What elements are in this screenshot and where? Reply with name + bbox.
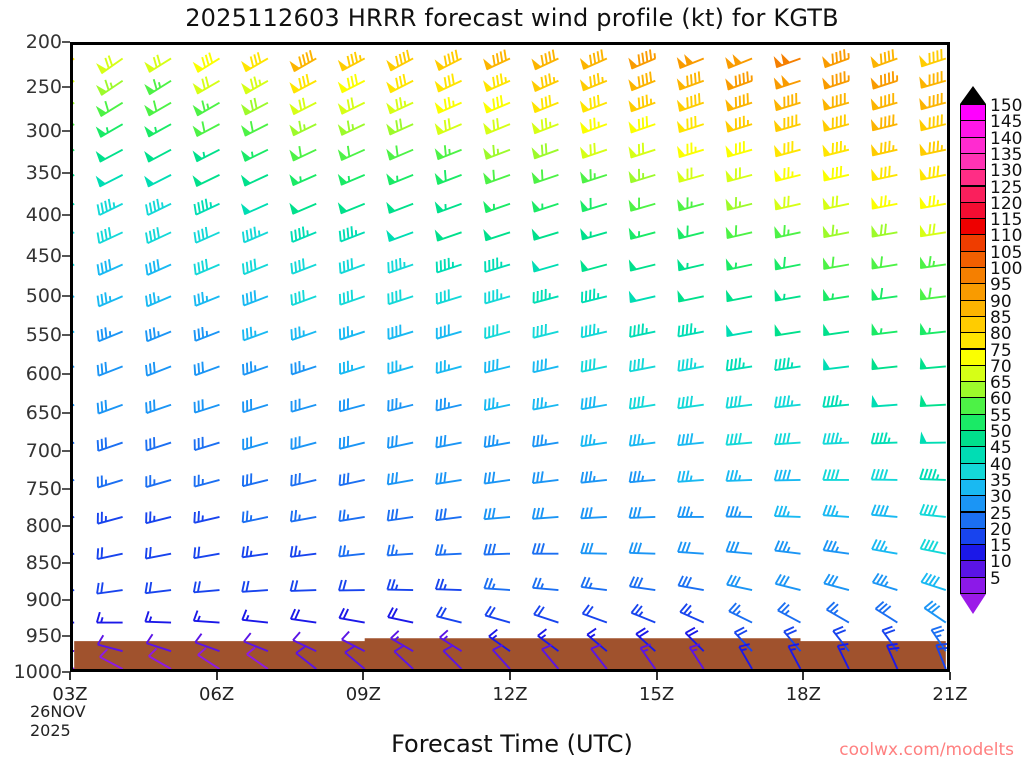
wind-barb (342, 632, 365, 652)
colorbar-cell (960, 202, 986, 219)
wind-barb (198, 648, 220, 669)
wind-barb (338, 97, 364, 113)
wind-barb (936, 644, 947, 669)
y-axis-tick-mark (62, 130, 70, 132)
wind-barb (823, 71, 849, 88)
y-axis-tick-mark (62, 599, 70, 601)
wind-barb (291, 436, 316, 449)
wind-barb (920, 195, 946, 208)
wind-barb (388, 360, 413, 373)
x-axis-tick-mark (69, 672, 71, 680)
wind-barb (388, 398, 413, 411)
wind-barb (823, 93, 849, 110)
wind-barb (823, 290, 849, 300)
y-axis-tick-label: 600 (4, 363, 62, 385)
wind-barb (437, 289, 462, 303)
x-axis-tick-label: 06Z (199, 684, 234, 705)
colorbar-cell (960, 120, 986, 137)
wind-barb (145, 611, 171, 622)
wind-barb (291, 290, 316, 305)
wind-barb (98, 259, 123, 275)
wind-barb (435, 97, 461, 113)
x-axis-tick-mark (216, 672, 218, 680)
wind-barb (437, 258, 462, 273)
wind-barb (872, 288, 897, 300)
wind-barb (920, 49, 946, 66)
wind-barb (583, 605, 607, 623)
wind-barb (532, 261, 558, 271)
wind-barb (97, 80, 123, 95)
page-title: 2025112603 HRRR forecast wind profile (k… (0, 4, 1024, 32)
wind-barb (726, 326, 752, 336)
wind-barb (436, 579, 462, 590)
wind-barb (532, 118, 558, 133)
wind-barb (532, 50, 558, 70)
wind-barb (387, 74, 413, 92)
wind-barb (242, 581, 268, 592)
wind-barb (193, 150, 219, 162)
wind-barb (775, 290, 801, 300)
wind-barb (146, 437, 171, 450)
wind-barb (871, 141, 897, 156)
wind-barb (340, 361, 365, 374)
wind-barb (823, 257, 849, 269)
wind-barb (435, 170, 461, 184)
wind-barb (726, 506, 752, 517)
wind-barb (920, 433, 946, 443)
wind-barb (338, 74, 364, 92)
wind-barb (146, 199, 171, 215)
wind-barb (194, 259, 219, 275)
wind-barb (580, 50, 606, 69)
wind-barb (631, 604, 655, 622)
wind-barb (242, 121, 268, 136)
wind-barb (920, 396, 946, 406)
wind-barb (147, 634, 171, 651)
colorbar-cell (960, 186, 986, 203)
wind-barb (435, 118, 461, 134)
wind-barb (876, 602, 898, 623)
wind-barb (388, 325, 413, 339)
wind-barb (872, 324, 898, 334)
wind-barb (920, 141, 946, 155)
wind-barb (73, 362, 74, 376)
wind-barb (629, 198, 655, 211)
wind-barb (73, 291, 74, 307)
wind-barb (241, 150, 267, 161)
colorbar-cell (960, 300, 986, 317)
wind-barb (195, 634, 219, 652)
wind-barb (291, 258, 316, 273)
wind-barb (533, 543, 559, 553)
wind-barb (290, 204, 316, 214)
wind-barb (533, 359, 558, 373)
wind-barb (581, 434, 607, 446)
colorbar-cell (960, 397, 986, 414)
wind-barb (678, 576, 703, 590)
wind-barb (871, 114, 897, 130)
wind-barb (73, 199, 74, 215)
wind-barb (629, 116, 655, 132)
wind-barb (193, 101, 219, 116)
x-axis-tick-label: 09Z (346, 684, 381, 705)
colorbar-cell (960, 169, 986, 186)
wind-barb (823, 225, 849, 237)
wind-barb (823, 49, 849, 67)
wind-barb (98, 512, 123, 524)
wind-barb (823, 470, 849, 480)
wind-barb (193, 77, 219, 94)
wind-barb (726, 71, 752, 89)
wind-barb (98, 362, 123, 376)
wind-barb (98, 400, 123, 414)
wind-barb (776, 574, 801, 590)
wind-barb (387, 545, 413, 556)
colorbar-cell (960, 153, 986, 170)
wind-barb (291, 326, 316, 339)
wind-barb (194, 199, 219, 215)
colorbar-cell (960, 528, 986, 545)
wind-barb (582, 289, 607, 303)
wind-barb (73, 150, 74, 162)
wind-barb (485, 606, 510, 622)
colorbar-cell (960, 137, 986, 154)
wind-barb (872, 505, 898, 517)
colorbar-cell (960, 234, 986, 251)
colorbar-cell (960, 463, 986, 480)
wind-barb (241, 175, 267, 186)
wind-barb (435, 74, 461, 92)
colorbar-tick-label: 5 (990, 569, 1001, 589)
colorbar-over-arrow (960, 86, 986, 104)
wind-barb (727, 575, 752, 590)
wind-barb (533, 435, 558, 447)
wind-barb (872, 469, 898, 480)
wind-barb (194, 611, 220, 623)
wind-barb (193, 53, 219, 73)
wind-barb (871, 71, 897, 88)
wind-barb (726, 141, 752, 157)
wind-barb (636, 628, 655, 651)
wind-barb-layer (73, 45, 947, 669)
wind-barb (484, 145, 510, 159)
wind-barb (823, 505, 849, 517)
wind-barb (291, 510, 316, 521)
wind-barb (340, 326, 365, 339)
wind-barb (242, 98, 268, 115)
y-axis-tick-label: 400 (4, 204, 62, 226)
wind-barb (872, 396, 898, 406)
wind-barb (678, 396, 704, 408)
y-axis-tick-label: 900 (4, 589, 62, 611)
wind-barb (581, 169, 607, 183)
wind-barb (538, 629, 559, 651)
wind-barb (98, 199, 123, 215)
y-axis-tick-mark (62, 373, 70, 375)
wind-barb (436, 544, 462, 555)
wind-barb (388, 608, 413, 623)
colorbar-cell (960, 251, 986, 268)
wind-barb (73, 476, 74, 488)
wind-barb (489, 630, 510, 652)
y-axis-tick-label: 1000 (4, 661, 62, 683)
wind-barb (484, 202, 510, 212)
colorbar-cell (960, 381, 986, 398)
wind-barb (484, 544, 510, 555)
wind-barb (532, 229, 558, 239)
wind-barb (96, 101, 122, 116)
wind-barb (243, 259, 268, 274)
wind-barb (435, 230, 461, 240)
colorbar-cell (960, 479, 986, 496)
wind-barb (581, 198, 607, 211)
wind-barb (339, 580, 365, 590)
colorbar-cell (960, 414, 986, 431)
y-axis-tick-mark (62, 255, 70, 257)
wind-barb (629, 95, 655, 112)
wind-barb (775, 506, 801, 517)
wind-barb (532, 201, 558, 211)
wind-barb (823, 395, 849, 407)
wind-barb (581, 118, 607, 133)
wind-barb (193, 121, 219, 136)
wind-barb (145, 175, 171, 187)
wind-barb (146, 547, 171, 558)
wind-barb (194, 227, 219, 243)
wind-barb (920, 114, 946, 130)
wind-barb (920, 93, 946, 109)
wind-barb (775, 325, 801, 335)
wind-barb (97, 56, 123, 74)
wind-barb (774, 115, 800, 132)
wind-barb (243, 473, 268, 486)
wind-barb (533, 471, 559, 483)
wind-barb (388, 435, 413, 448)
wind-barb (680, 604, 704, 623)
wind-barb (73, 583, 74, 594)
wind-barb (243, 437, 268, 450)
wind-barb (678, 323, 703, 336)
wind-barb (73, 175, 74, 187)
wind-barb (73, 613, 74, 623)
wind-barb (290, 175, 316, 185)
wind-barb (871, 93, 897, 110)
wind-barb (73, 122, 74, 137)
wind-barb (73, 259, 74, 275)
wind-barb (195, 399, 220, 412)
wind-barb (291, 609, 316, 622)
wind-barb (629, 143, 655, 158)
wind-barb (580, 95, 606, 112)
colorbar-under-arrow (960, 594, 986, 614)
wind-barb (242, 546, 268, 557)
wind-barb (726, 116, 752, 132)
wind-barb (581, 229, 607, 239)
wind-barb (920, 166, 946, 180)
wind-barb (484, 170, 510, 184)
wind-barb (726, 55, 752, 68)
y-axis-tick-label: 450 (4, 245, 62, 267)
wind-barb (146, 327, 171, 341)
wind-barb (146, 511, 171, 523)
wind-barb (290, 146, 316, 160)
wind-barb (340, 436, 365, 449)
wind-barb (582, 324, 607, 338)
wind-barb (775, 395, 801, 407)
wind-barb (726, 259, 752, 269)
wind-barb (775, 225, 801, 238)
wind-barb (678, 226, 704, 239)
wind-barb (686, 628, 704, 651)
wind-barb (243, 399, 268, 412)
wind-barb (774, 93, 800, 110)
wind-barb (872, 432, 898, 443)
wind-barb (291, 361, 316, 374)
colorbar-cell (960, 316, 986, 333)
wind-barb (484, 578, 510, 590)
wind-barb (774, 167, 800, 181)
y-axis-tick-mark (62, 172, 70, 174)
wind-barb (73, 101, 74, 116)
wind-barb (387, 231, 413, 241)
wind-barb (727, 358, 752, 371)
wind-barb (98, 437, 123, 450)
wind-barb (726, 93, 752, 110)
wind-barb (485, 398, 510, 411)
wind-barb (437, 360, 462, 373)
wind-barb (924, 601, 945, 622)
wind-barb (726, 167, 752, 181)
wind-barb (823, 166, 849, 181)
wind-barb (872, 195, 898, 208)
wind-barb (920, 324, 946, 334)
colorbar-cell (960, 495, 986, 512)
wind-barb (435, 50, 461, 70)
wind-barb (630, 543, 656, 554)
wind-barb (73, 548, 74, 560)
wind-barb (73, 227, 74, 243)
wind-barb (778, 603, 801, 623)
wind-barb (921, 573, 945, 590)
wind-barb (581, 143, 607, 158)
wind-barb (387, 50, 413, 71)
y-axis-tick-label: 750 (4, 478, 62, 500)
wind-barb (872, 224, 898, 237)
wind-barb (726, 225, 752, 238)
wind-barb (145, 124, 171, 136)
wind-barb (873, 573, 898, 590)
wind-barb (338, 121, 364, 135)
y-axis-tick-label: 800 (4, 515, 62, 537)
colorbar-cell (960, 430, 986, 447)
wind-barb (823, 433, 849, 444)
wind-barb (145, 150, 171, 162)
wind-barb (194, 327, 219, 341)
wind-barb (677, 143, 703, 158)
wind-barb (73, 328, 74, 342)
wind-barb (387, 119, 413, 135)
wind-barb (629, 292, 655, 302)
wind-barb (436, 472, 461, 484)
wind-barb (534, 606, 558, 623)
colorbar-cell (960, 218, 986, 235)
wind-barb (146, 292, 171, 306)
wind-barb (340, 473, 365, 486)
wind-barb (533, 324, 558, 338)
wind-barb (338, 203, 364, 213)
wind-barb (677, 93, 703, 111)
wind-barb (833, 627, 849, 651)
wind-barb (391, 631, 413, 651)
wind-barb (290, 74, 316, 93)
wind-barb (920, 504, 946, 517)
wind-barb (97, 612, 123, 622)
wind-barb (146, 400, 171, 413)
wind-barb (195, 475, 220, 487)
wind-barb (484, 74, 510, 92)
wind-barb (194, 581, 220, 592)
wind-barb (484, 95, 510, 112)
wind-barb (435, 145, 461, 159)
wind-barb (73, 650, 74, 669)
site-watermark: coolwx.com/modelts (839, 740, 1014, 760)
wind-barb (887, 644, 899, 669)
wind-barb (534, 289, 559, 303)
wind-barb (73, 438, 74, 452)
wind-barb (920, 71, 946, 88)
y-axis-tick-mark (62, 562, 70, 564)
y-axis-tick-mark (62, 214, 70, 216)
wind-barb (195, 437, 220, 450)
wind-barb (872, 256, 898, 268)
wind-barb (243, 511, 268, 523)
wind-barb (291, 546, 317, 557)
y-axis-tick-mark (62, 86, 70, 88)
wind-barb (146, 582, 172, 593)
wind-barb (73, 512, 74, 524)
wind-barb (291, 227, 316, 242)
wind-barb (242, 52, 268, 71)
colorbar-cell (960, 512, 986, 529)
wind-barb (582, 358, 607, 371)
wind-barb (243, 290, 268, 305)
x-axis-tick-mark (802, 672, 804, 680)
wind-barb (580, 73, 606, 90)
wind-barb (243, 327, 268, 341)
wind-barb (533, 578, 559, 590)
y-axis-tick-label: 500 (4, 285, 62, 307)
wind-barb (290, 98, 316, 115)
x-axis-tick-mark (949, 672, 951, 680)
wind-barb (485, 289, 510, 303)
wind-barb (775, 257, 801, 269)
wind-barb (774, 76, 800, 89)
wind-barb (339, 510, 364, 521)
y-axis-tick-label: 700 (4, 440, 62, 462)
colorbar-cell (960, 446, 986, 463)
wind-barb (775, 196, 801, 210)
wind-barb (582, 396, 607, 409)
wind-barb (388, 509, 413, 521)
y-axis-tick-label: 200 (4, 31, 62, 53)
wind-barb (98, 475, 123, 487)
wind-barb (340, 226, 365, 241)
wind-barb (73, 400, 74, 414)
wind-barb (581, 471, 607, 483)
wind-barb (436, 508, 462, 520)
wind-barb (726, 197, 752, 210)
wind-barb (533, 508, 559, 519)
